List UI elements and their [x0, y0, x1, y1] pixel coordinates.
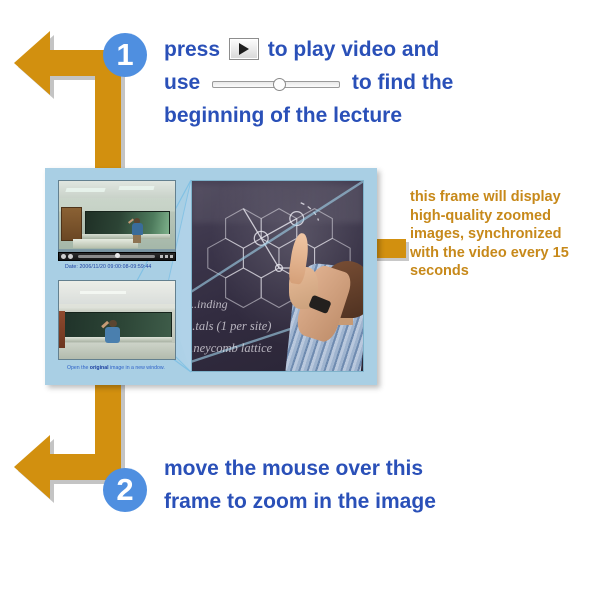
classroom-wide-image [59, 181, 175, 259]
time-slider-icon[interactable] [212, 77, 340, 91]
arrow-head-top-icon [14, 31, 50, 95]
arrow-head-bottom-icon [14, 435, 50, 499]
lecturer-hand [286, 230, 364, 371]
screenshot-root: 1 press to play video and use to find th… [0, 0, 600, 600]
chalk-line-1: ...inding [191, 297, 228, 312]
step-2-instruction: move the mouse over this frame to zoom i… [164, 452, 436, 518]
step-badge-1: 1 [103, 33, 147, 77]
play-button-icon[interactable] [229, 38, 259, 60]
high-quality-zoom-frame[interactable]: ...inding ...tals (1 per site) ...neycom… [191, 180, 364, 372]
volume-icon[interactable] [160, 255, 173, 258]
step1-text-before-play: press [164, 38, 220, 61]
step-badge-2: 2 [103, 468, 147, 512]
seek-slider[interactable] [78, 255, 155, 258]
open-link-bold: original [90, 365, 109, 371]
chalk-line-3: ...neycomb lattice [191, 341, 272, 356]
open-link-pre: Open the [67, 365, 90, 371]
step1-text-after-slider: to find the [352, 71, 453, 94]
step2-line2: frame to zoom in the image [164, 485, 436, 518]
video-thumbnail-wide[interactable] [58, 180, 176, 260]
seek-thumb[interactable] [115, 253, 120, 258]
pause-icon[interactable] [68, 254, 73, 259]
step1-line3: beginning of the lecture [164, 99, 453, 132]
slider-thumb[interactable] [273, 78, 286, 91]
video-thumbnail-board[interactable] [58, 280, 176, 360]
open-original-link[interactable]: Open the original image in a new window. [67, 365, 165, 371]
step1-text-before-slider: use [164, 71, 200, 94]
classroom-board-image [59, 281, 175, 359]
play-icon[interactable] [61, 254, 66, 259]
open-link-post: image in a new window. [109, 365, 165, 371]
annotation-text: this frame will display high-quality zoo… [410, 188, 590, 281]
chalk-line-2: ...tals (1 per site) [191, 319, 271, 334]
step2-line1: move the mouse over this [164, 452, 436, 485]
video-date-label: Date: 2006/11/20 09:00:08-09:59:44 [65, 264, 151, 270]
blackboard-image: ...inding ...tals (1 per site) ...neycom… [192, 181, 363, 371]
video-player-panel[interactable]: Date: 2006/11/20 09:00:08-09:59:44 Open … [45, 168, 377, 385]
step-1-instruction: press to play video and use to find the … [164, 33, 453, 132]
video-control-bar[interactable] [58, 252, 176, 261]
step1-text-after-play: to play video and [268, 38, 440, 61]
